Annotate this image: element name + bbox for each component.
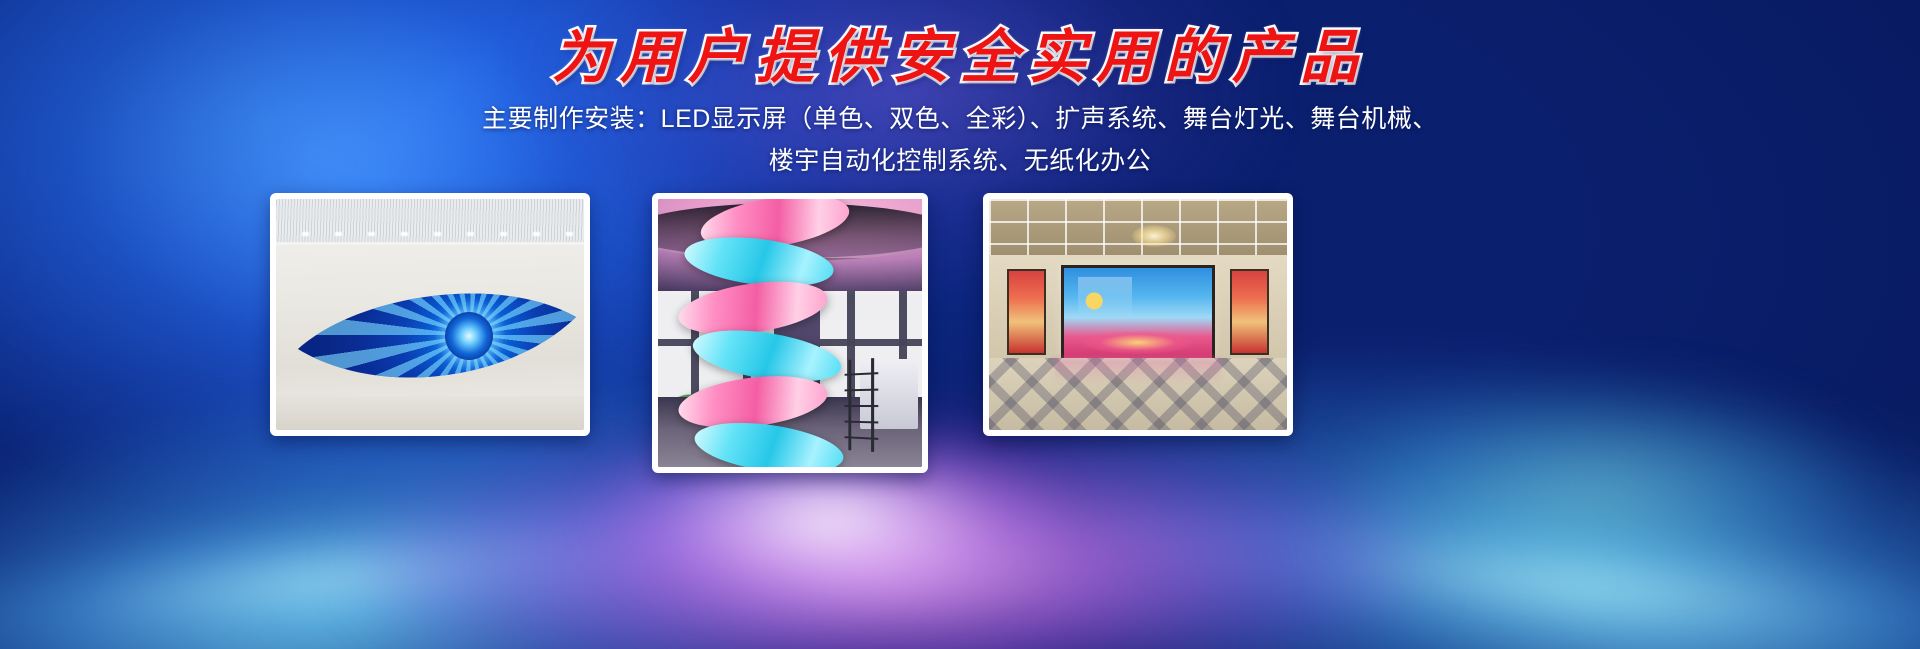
photo-image-spiral-led-display — [658, 199, 922, 467]
photo-card-spiral-led-display[interactable] — [652, 193, 928, 473]
banner-content: 为用户提供安全实用的产品 主要制作安装：LED显示屏（单色、双色、全彩）、扩声系… — [0, 0, 1920, 649]
promo-banner: 为用户提供安全实用的产品 主要制作安装：LED显示屏（单色、双色、全彩）、扩声系… — [0, 0, 1920, 649]
banner-headline: 为用户提供安全实用的产品 — [0, 26, 1920, 89]
photo3-side-screen-left — [1007, 269, 1046, 355]
banner-subtitle-line-2: 楼宇自动化控制系统、无纸化办公 — [0, 140, 1920, 182]
photo3-main-led-screen — [1061, 265, 1216, 361]
banner-subtitle: 主要制作安装：LED显示屏（单色、双色、全彩）、扩声系统、舞台灯光、舞台机械、 … — [0, 98, 1920, 182]
photo-image-conference-hall — [989, 199, 1287, 430]
photo-gallery — [0, 193, 1920, 473]
photo-card-conference-hall[interactable] — [983, 193, 1293, 436]
photo3-side-screen-right — [1230, 269, 1269, 355]
photo3-floor-reflection — [1055, 358, 1222, 384]
photo-card-eye-led-display[interactable] — [270, 193, 590, 436]
banner-subtitle-line-1: 主要制作安装：LED显示屏（单色、双色、全彩）、扩声系统、舞台灯光、舞台机械、 — [0, 98, 1920, 140]
photo1-ceiling — [276, 199, 584, 245]
photo2-helix-screen — [674, 199, 854, 467]
photo3-chandelier — [1132, 225, 1176, 247]
photo-image-eye-led-display — [276, 199, 584, 430]
photo1-floor — [276, 396, 584, 430]
